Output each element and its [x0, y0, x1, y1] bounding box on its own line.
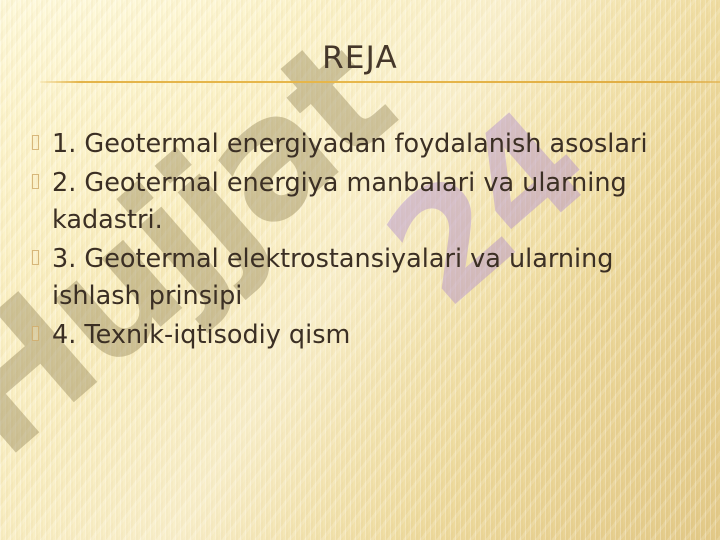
- missing-glyph-box-icon: [32, 326, 39, 341]
- bullet-marker-icon: [28, 317, 52, 341]
- missing-glyph-box-icon: [32, 250, 39, 265]
- bullet-marker-icon: [28, 126, 52, 150]
- missing-glyph-box-icon: [32, 135, 39, 150]
- page-title: REJA: [322, 40, 398, 76]
- list-item: 1. Geotermal energiyadan foydalanish aso…: [28, 126, 692, 163]
- bullet-marker-icon: [28, 241, 52, 265]
- list-item-label: 2. Geotermal energiya manbalari va ularn…: [52, 165, 652, 239]
- bullet-marker-icon: [28, 165, 52, 189]
- list-item-label: 1. Geotermal energiyadan foydalanish aso…: [52, 126, 652, 163]
- list-item-label: 4. Texnik-iqtisodiy qism: [52, 317, 652, 354]
- bullet-list: 1. Geotermal energiyadan foydalanish aso…: [28, 126, 692, 356]
- title-divider-rule: [40, 81, 720, 83]
- list-item: 2. Geotermal energiya manbalari va ularn…: [28, 165, 692, 239]
- list-item: 4. Texnik-iqtisodiy qism: [28, 317, 692, 354]
- slide-canvas: Hujjat 24 REJA 1. Geotermal energiyadan …: [0, 0, 720, 540]
- list-item-label: 3. Geotermal elektrostansiyalari va ular…: [52, 241, 652, 315]
- missing-glyph-box-icon: [32, 174, 39, 189]
- list-item: 3. Geotermal elektrostansiyalari va ular…: [28, 241, 692, 315]
- title-block: REJA: [0, 40, 720, 76]
